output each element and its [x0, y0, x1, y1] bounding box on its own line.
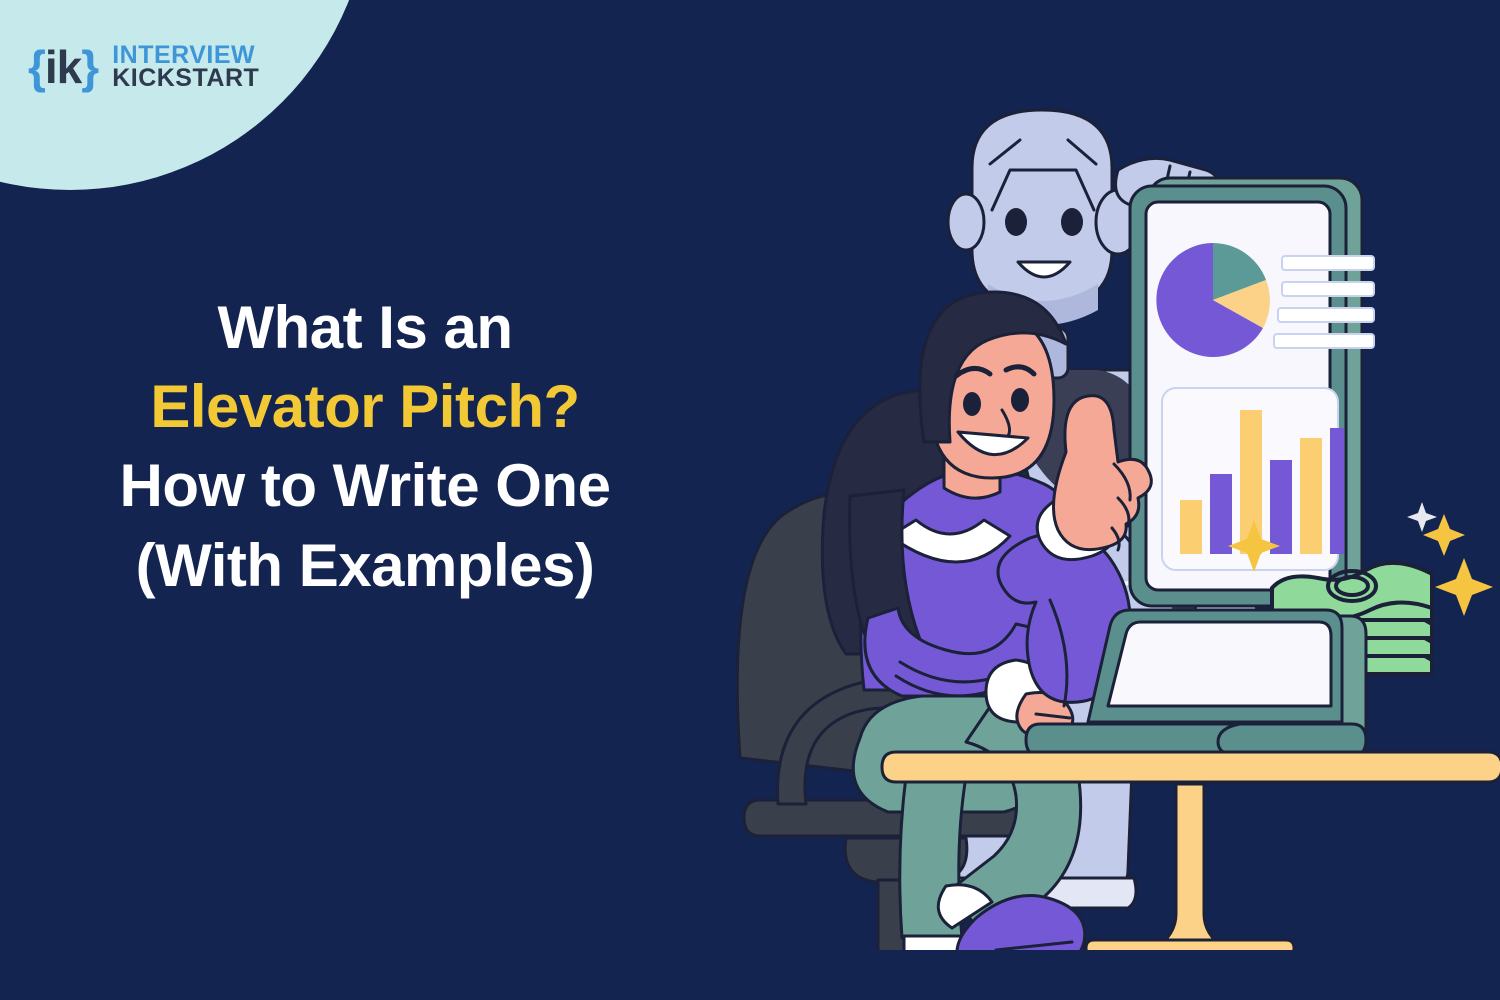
page-title: What Is an Elevator Pitch? How to Write …: [55, 288, 675, 605]
logo-wordmark: INTERVIEW KICKSTART: [112, 44, 259, 91]
logo-brace-close-icon: }: [81, 41, 98, 93]
report-pie-chart: [1156, 243, 1270, 357]
logo-mark-icon: {ik}: [28, 44, 98, 90]
logo-word-kickstart: KICKSTART: [112, 67, 259, 90]
headline-line-3: How to Write One: [55, 446, 675, 525]
brand-blob-decoration: [0, 0, 370, 190]
interview-kickstart-logo[interactable]: {ik} INTERVIEW KICKSTART: [28, 44, 259, 91]
headline-line-1: What Is an: [55, 288, 675, 367]
headline-line-2: Elevator Pitch?: [55, 367, 675, 446]
logo-brace-open-icon: {: [28, 41, 45, 93]
poster-canvas: {ik} INTERVIEW KICKSTART What Is an Elev…: [0, 0, 1500, 1000]
headline-line-4: (With Examples): [55, 526, 675, 605]
hero-illustration: [700, 70, 1500, 950]
logo-mark-text: ik: [45, 41, 81, 93]
